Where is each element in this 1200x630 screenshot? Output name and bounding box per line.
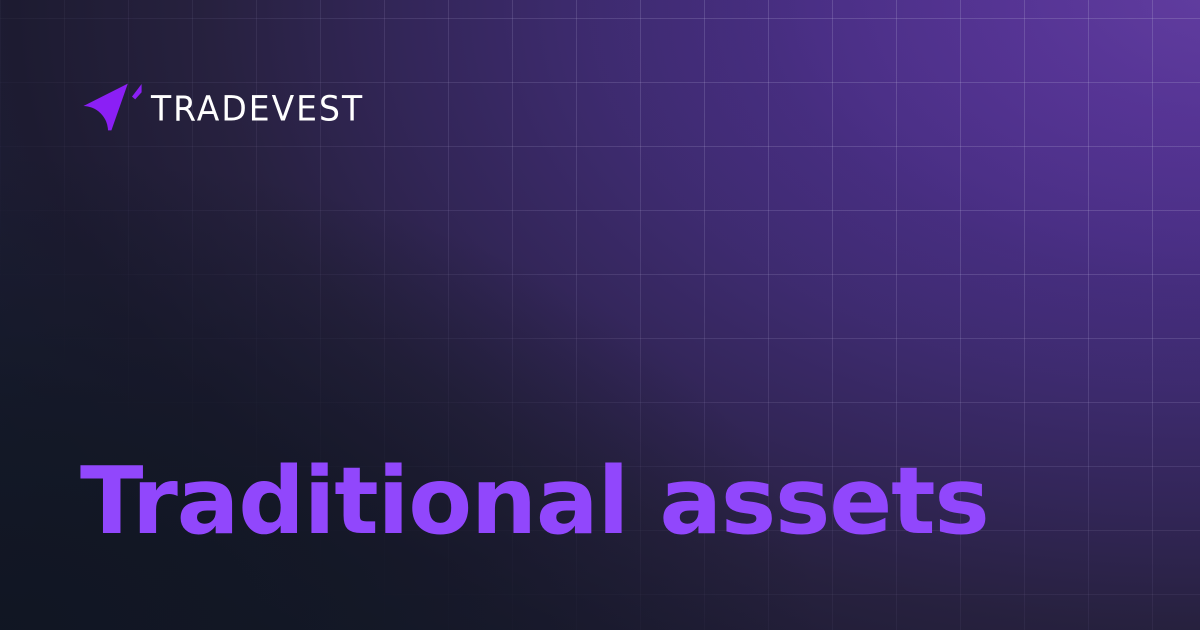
brand-logo[interactable]: TRADEVEST [80,82,364,134]
page-title: Traditional assets [80,455,989,548]
social-card: TRADEVEST Traditional assets [0,0,1200,630]
tradevest-arrow-mark-icon [80,83,142,133]
brand-wordmark: TRADEVEST [151,91,364,125]
